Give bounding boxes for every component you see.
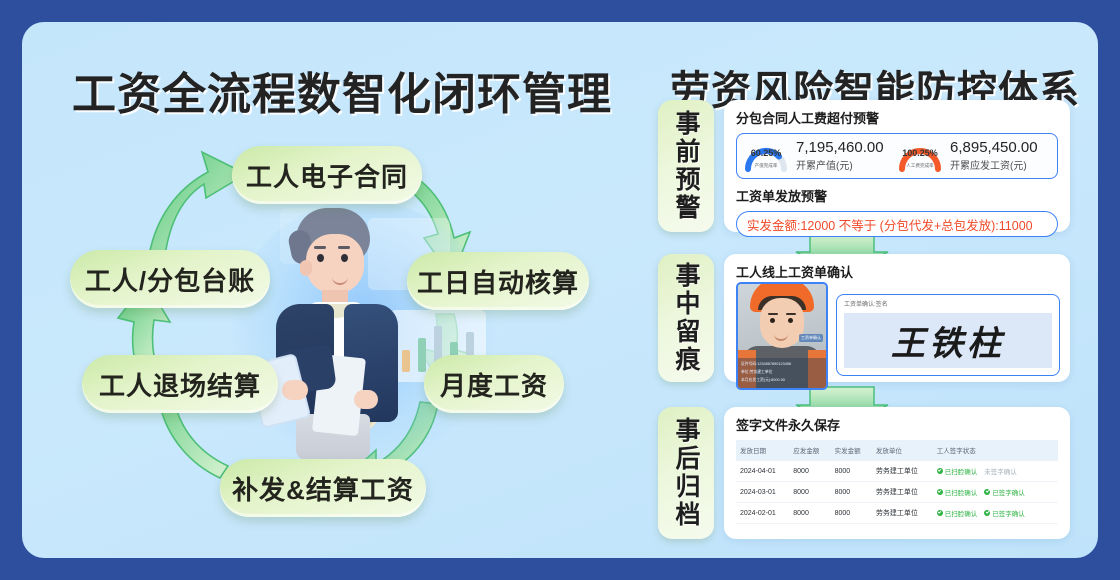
gauge-labor-icon: 100.25% 人工费完成率 [897, 139, 943, 173]
section-label-post-archive: 事后归档 [658, 407, 714, 539]
kpi-label: 开累产值(元) [796, 157, 884, 172]
check-circle-icon [937, 468, 943, 474]
table-cell: 8000 [831, 503, 872, 524]
status-badge: 已扫脸确认 [937, 508, 978, 518]
signature-text: 王铁柱 [891, 316, 1005, 365]
worker-photo: 证件号码:1234567890123456 单位:劳务建工单位 本月应发工资(元… [736, 282, 828, 390]
table-cell: 2024-03-01 [736, 482, 789, 503]
status-badge: 已签字确认 [984, 487, 1025, 497]
card-title: 分包合同人工费超付预警 [736, 108, 1058, 127]
status-cell: 已扫脸确认未签字确认 [933, 461, 1058, 482]
flow-node-label: 工人退场结算 [99, 366, 261, 403]
signature-card: 工资单确认:签名 王铁柱 [836, 294, 1060, 376]
kpi-labor-cost: 100.25% 人工费完成率 6,895,450.00 开累应发工资(元) [897, 139, 1051, 173]
table-header-cell: 发放单位 [872, 440, 933, 461]
pre-warning-card: 分包合同人工费超付预警 60.25% 产值完成率 7,195,460 [724, 100, 1070, 232]
section-pre-warning: 事前预警 分包合同人工费超付预警 60.25% 产值完成率 [658, 100, 1070, 232]
status-badge: 已签字确认 [984, 508, 1025, 518]
flow-node-worker-contract[interactable]: 工人电子合同 [232, 146, 422, 204]
warn-title: 工资单发放预警 [736, 186, 1058, 205]
vertical-label-text: 事前预警 [668, 110, 704, 222]
flow-node-label: 工人/分包台账 [85, 261, 255, 298]
flow-node-workday-accounting[interactable]: 工日自动核算 [407, 252, 589, 310]
status-badge: 已扫脸确认 [937, 487, 978, 497]
flow-node-label: 月度工资 [440, 366, 548, 403]
table-header-cell: 应发金额 [789, 440, 830, 461]
kpi-output-value: 60.25% 产值完成率 7,195,460.00 开累产值(元) [743, 139, 897, 173]
check-circle-icon [937, 489, 943, 495]
flow-node-worker-ledger[interactable]: 工人/分包台账 [70, 250, 270, 308]
flow-node-exit-settlement[interactable]: 工人退场结算 [82, 355, 278, 413]
status-cell: 已扫脸确认已签字确认 [933, 482, 1058, 503]
signature-area[interactable]: 王铁柱 [844, 313, 1052, 368]
table-row[interactable]: 2024-02-0180008000劳务建工单位已扫脸确认已签字确认 [736, 503, 1058, 524]
status-cell: 已扫脸确认已签字确认 [933, 503, 1058, 524]
signature-label: 工资单确认:签名 [837, 295, 1059, 308]
kpi-row: 60.25% 产值完成率 7,195,460.00 开累产值(元) [736, 133, 1058, 179]
archive-card: 签字文件永久保存 发放日期应发金额实发金额发放单位工人签字状态 2024-04-… [724, 407, 1070, 539]
check-circle-icon [984, 510, 990, 516]
gauge-label: 产值完成率 [741, 162, 791, 168]
card-title: 工人线上工资单确认 [736, 262, 1058, 281]
table-cell: 8000 [831, 482, 872, 503]
photo-info-overlay: 证件号码:1234567890123456 单位:劳务建工单位 本月应发工资(元… [738, 358, 826, 388]
table-cell: 劳务建工单位 [872, 482, 933, 503]
section-label-in-process: 事中留痕 [658, 254, 714, 382]
table-row[interactable]: 2024-04-0180008000劳务建工单位已扫脸确认未签字确认 [736, 461, 1058, 482]
gauge-label: 人工费完成率 [895, 162, 945, 168]
left-title: 工资全流程数智化闭环管理 [72, 58, 612, 122]
gauge-percent: 60.25% [743, 148, 789, 158]
in-process-card: 工人线上工资单确认 证件号码:1234567890123456 单位:劳务建工单… [724, 254, 1070, 382]
gauge-percent: 100.25% [897, 148, 943, 158]
table-header-cell: 发放日期 [736, 440, 789, 461]
poster-stage: 工资全流程数智化闭环管理 [0, 0, 1120, 580]
gauge-output-icon: 60.25% 产值完成率 [743, 139, 789, 173]
section-in-process: 事中留痕 工人线上工资单确认 证件号码:1234567890123456 单位:… [658, 254, 1070, 382]
table-header-cell: 实发金额 [831, 440, 872, 461]
flow-node-supplement-settlement[interactable]: 补发&结算工资 [220, 459, 426, 517]
table-header-cell: 工人签字状态 [933, 440, 1058, 461]
inner-panel: 工资全流程数智化闭环管理 [22, 22, 1098, 558]
payroll-warning-text: 实发金额:12000 不等于 (分包代发+总包发放):11000 [747, 215, 1033, 234]
table-cell: 2024-04-01 [736, 461, 789, 482]
table-header-row: 发放日期应发金额实发金额发放单位工人签字状态 [736, 440, 1058, 461]
photo-unit-line: 单位:劳务建工单位 [741, 369, 772, 375]
check-circle-icon [984, 489, 990, 495]
vertical-label-text: 事中留痕 [668, 262, 704, 374]
kpi-value: 6,895,450.00 [950, 140, 1038, 156]
flow-node-label: 补发&结算工资 [232, 470, 414, 507]
section-label-pre-warning: 事前预警 [658, 100, 714, 232]
section-post-archive: 事后归档 签字文件永久保存 发放日期应发金额实发金额发放单位工人签字状态 202… [658, 407, 1070, 539]
kpi-label: 开累应发工资(元) [950, 157, 1038, 172]
status-badge: 未签字确认 [984, 466, 1017, 476]
check-circle-icon [937, 510, 943, 516]
worker-illustration [240, 190, 490, 480]
status-badge: 已扫脸确认 [937, 466, 978, 476]
table-row[interactable]: 2024-03-0180008000劳务建工单位已扫脸确认已签字确认 [736, 482, 1058, 503]
table-cell: 8000 [789, 503, 830, 524]
flow-node-label: 工人电子合同 [246, 157, 408, 194]
kpi-value: 7,195,460.00 [796, 140, 884, 156]
table-cell: 劳务建工单位 [872, 503, 933, 524]
photo-id-line: 证件号码:1234567890123456 [741, 361, 791, 367]
payroll-warning-banner: 实发金额:12000 不等于 (分包代发+总包发放):11000 [736, 211, 1058, 237]
photo-salary-line: 本月应发工资(元):8000.00 [741, 377, 785, 383]
table-cell: 8000 [789, 461, 830, 482]
card-title: 签字文件永久保存 [736, 415, 1058, 434]
vertical-label-text: 事后归档 [668, 417, 704, 529]
flow-node-label: 工日自动核算 [417, 263, 579, 300]
table-cell: 2024-02-01 [736, 503, 789, 524]
photo-badge: 工资单确认 [799, 334, 823, 342]
table-cell: 8000 [789, 482, 830, 503]
table-cell: 劳务建工单位 [872, 461, 933, 482]
table-cell: 8000 [831, 461, 872, 482]
flow-node-monthly-salary[interactable]: 月度工资 [424, 355, 564, 413]
archive-table: 发放日期应发金额实发金额发放单位工人签字状态 2024-04-018000800… [736, 440, 1058, 524]
